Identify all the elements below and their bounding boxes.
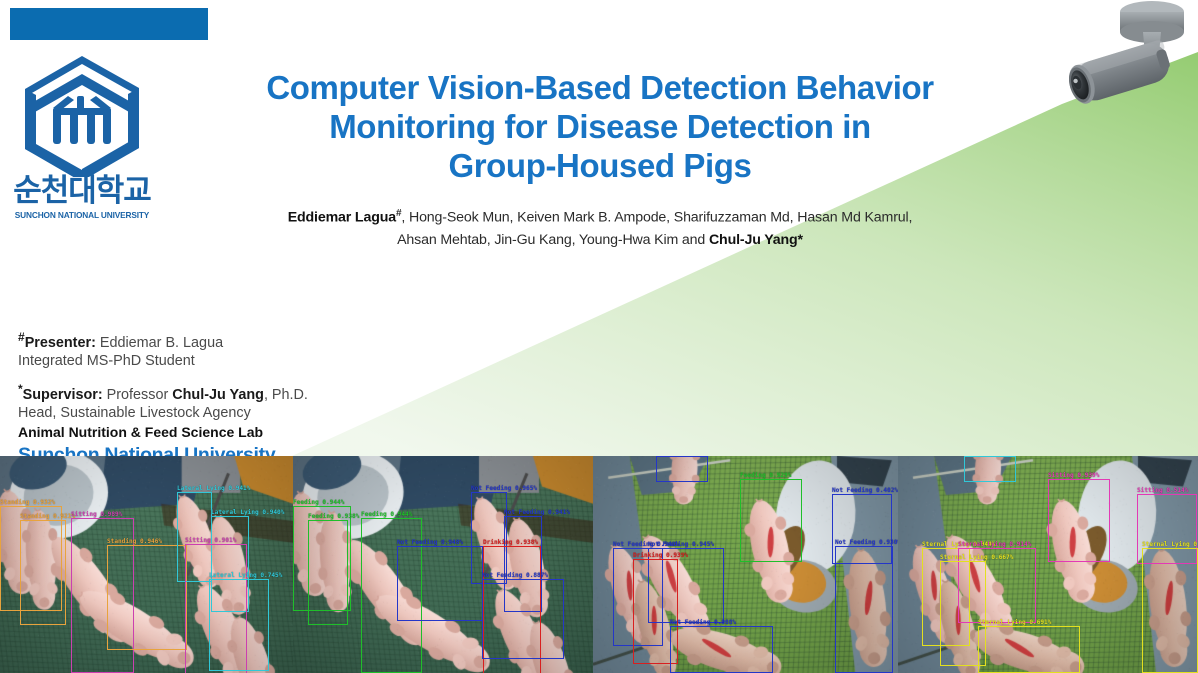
detection-bounding-box <box>670 626 773 673</box>
logo-english-text: SUNCHON NATIONAL UNIVERSITY <box>8 210 156 220</box>
detection-label: Feeding 0.944% <box>293 499 344 506</box>
detection-panel-1[interactable]: Standing 0.932%Standing 0.921%Sitting 0.… <box>0 456 293 673</box>
detection-label: Lateral Lying 0.940% <box>211 509 284 516</box>
detection-label: Sitting 0.514% <box>1137 487 1188 494</box>
detection-bounding-box <box>835 546 893 673</box>
supervisor-role: Head, Sustainable Livestock Agency <box>18 404 448 423</box>
detection-label: Sitting 0.989% <box>71 511 122 518</box>
title-line-3: Group-Housed Pigs <box>160 146 1040 185</box>
detection-bounding-box <box>978 626 1080 673</box>
detection-bounding-box <box>656 456 708 482</box>
cctv-camera-icon <box>1040 0 1198 130</box>
detection-label: Sternal Lying 0.667% <box>940 554 1013 561</box>
page-title: Computer Vision-Based Detection Behavior… <box>160 68 1040 185</box>
presenter-mark: # <box>18 330 25 344</box>
detection-label: Not Feeding 0.965% <box>471 485 537 492</box>
detection-label: Not Feeding 0.887% <box>482 572 548 579</box>
detection-label: Not Feeding 0.908% <box>670 619 736 626</box>
university-logo: 순천대학교 SUNCHON NATIONAL UNIVERSITY <box>8 52 156 234</box>
info-spacer <box>18 371 448 380</box>
author-lead-name: Eddiemar Lagua <box>288 210 396 226</box>
detection-label: Not Feeding 0.948% <box>397 539 463 546</box>
detection-image-strip: Standing 0.932%Standing 0.921%Sitting 0.… <box>0 456 1198 673</box>
supervisor-label: Supervisor: <box>23 387 103 403</box>
detection-label: Sternal Lying 0.905% <box>1142 541 1198 548</box>
detection-label: Not Feeding 0.402% <box>832 487 898 494</box>
detection-label: Sternal Lying 0.914% <box>958 541 1031 548</box>
detection-label: Feeding 0.944% <box>361 511 412 518</box>
supervisor-line: *Supervisor: Professor Chul-Ju Yang, Ph.… <box>18 380 448 404</box>
presenter-info-block: #Presenter: Eddiemar B. Lagua Integrated… <box>18 328 448 467</box>
author-line-2: Ahsan Mehtab, Jin-Gu Kang, Young-Hwa Kim… <box>160 229 1040 251</box>
detection-bounding-box <box>740 479 802 562</box>
presenter-name: Eddiemar B. Lagua <box>96 335 223 351</box>
detection-panel-4[interactable]: Sitting 0.939%Sitting 0.514%Sternal Lyin… <box>898 456 1198 673</box>
detection-bounding-box <box>1048 479 1110 562</box>
detection-label: Not Feeding 0.930% <box>835 539 898 546</box>
detection-bounding-box <box>20 520 66 625</box>
detection-label: Standing 0.921% <box>20 513 75 520</box>
detection-label: Sternal Lying 0.691% <box>978 619 1051 626</box>
detection-label: Drinking 0.938% <box>483 539 538 546</box>
detection-label: Not Feeding 0.941% <box>504 509 570 516</box>
detection-bounding-box <box>482 579 564 659</box>
supervisor-suffix: , Ph.D. <box>264 387 308 403</box>
supervisor-prefix: Professor <box>103 387 173 403</box>
detection-label: Sitting 0.939% <box>1048 472 1099 479</box>
header-accent-bar <box>10 8 208 40</box>
presenter-label: Presenter: <box>25 335 96 351</box>
logo-korean-text: 순천대학교 <box>8 174 156 208</box>
detection-bounding-box <box>1142 548 1198 673</box>
detection-label: Lateral Lying 0.941% <box>177 485 250 492</box>
detection-bounding-box <box>209 579 269 671</box>
presenter-line: #Presenter: Eddiemar B. Lagua <box>18 328 448 352</box>
sunchon-hexagon-mark <box>8 52 156 177</box>
author-list: Eddiemar Lagua#, Hong-Seok Mun, Keiven M… <box>160 203 1040 251</box>
detection-label: Sitting 0.901% <box>185 537 236 544</box>
presentation-slide: 순천대학교 SUNCHON NATIONAL UNIVERSITY <box>0 0 1198 673</box>
detection-bounding-box <box>308 520 348 625</box>
detection-label: Standing 0.946% <box>107 538 162 545</box>
detection-label: Not Feeding 0.945% <box>648 541 714 548</box>
detection-label: Feeding 0.929% <box>740 472 791 479</box>
title-line-1: Computer Vision-Based Detection Behavior <box>160 68 1040 107</box>
supervisor-name: Chul-Ju Yang <box>172 387 264 403</box>
detection-panel-3[interactable]: Feeding 0.929%Not Feeding 0.402%Not Feed… <box>593 456 898 673</box>
detection-label: Standing 0.932% <box>0 499 55 506</box>
detection-bounding-box <box>107 545 187 650</box>
author-line2-names: Ahsan Mehtab, Jin-Gu Kang, Young-Hwa Kim… <box>397 232 709 248</box>
detection-panel-2[interactable]: Feeding 0.944%Feeding 0.938%Feeding 0.94… <box>293 456 593 673</box>
author-middle-names: , Hong-Seok Mun, Keiven Mark B. Ampode, … <box>401 210 912 226</box>
corresponding-author: Chul-Ju Yang* <box>709 232 803 248</box>
detection-bounding-box <box>964 456 1016 482</box>
author-line-1: Eddiemar Lagua#, Hong-Seok Mun, Keiven M… <box>160 203 1040 229</box>
title-line-2: Monitoring for Disease Detection in <box>160 107 1040 146</box>
lab-name: Animal Nutrition & Feed Science Lab <box>18 423 448 442</box>
detection-label: Drinking 0.939% <box>633 552 688 559</box>
detection-label: Lateral Lying 0.745% <box>209 572 282 579</box>
detection-label: Feeding 0.938% <box>308 513 359 520</box>
presenter-role: Integrated MS-PhD Student <box>18 352 448 371</box>
